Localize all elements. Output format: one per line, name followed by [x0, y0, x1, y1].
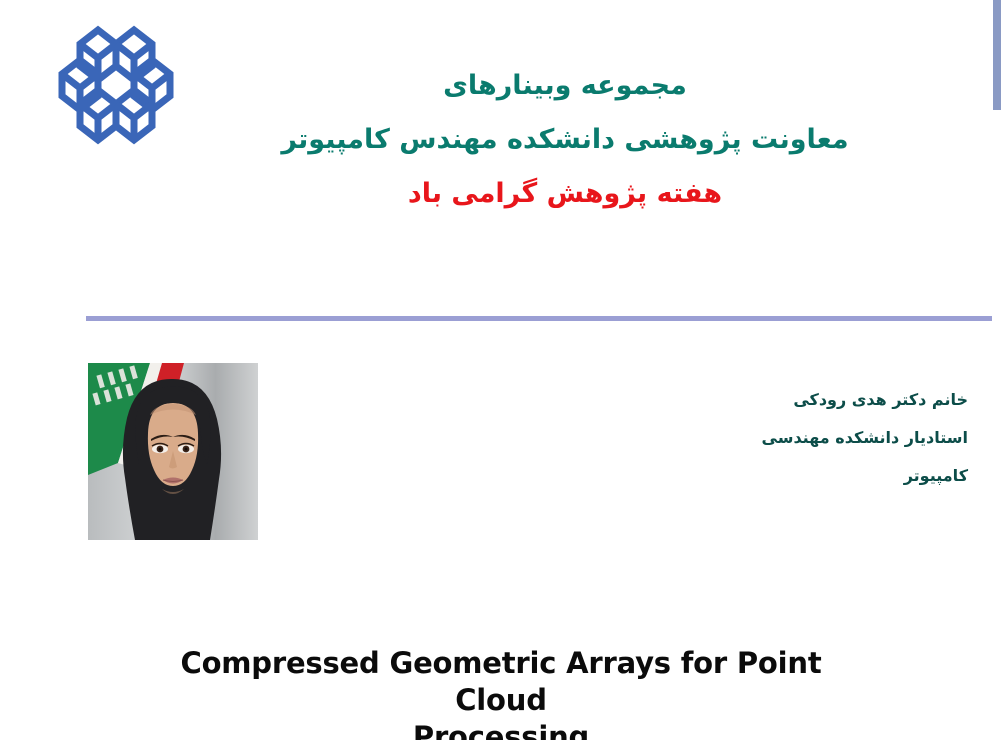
horizontal-divider — [86, 316, 1002, 321]
speaker-name: خانم دکتر هدی رودکی — [638, 392, 968, 409]
talk-title: Compressed Geometric Arrays for Point Cl… — [140, 645, 862, 740]
speaker-portrait-image — [88, 363, 258, 540]
talk-title-line-2: Processing — [413, 720, 589, 740]
header-text-block: مجموعه وبینارهای معاونت پژوهشی دانشکده م… — [215, 72, 915, 207]
speaker-photo — [88, 363, 258, 540]
header-line-3: هفته پژوهش گرامی باد — [215, 180, 915, 207]
scrollbar-thumb[interactable] — [993, 0, 1001, 110]
speaker-info-block: خانم دکتر هدی رودکی استادیار دانشکده مهن… — [638, 392, 968, 484]
talk-title-line-1: Compressed Geometric Arrays for Point Cl… — [180, 646, 821, 717]
university-logo — [46, 8, 186, 148]
vertical-scrollbar[interactable] — [992, 0, 1002, 740]
speaker-title-line-2: کامپیوتر — [638, 468, 968, 485]
speaker-title-line-1: استادیار دانشکده مهندسی — [638, 430, 968, 447]
slide-canvas: مجموعه وبینارهای معاونت پژوهشی دانشکده م… — [0, 0, 1002, 740]
header-line-1: مجموعه وبینارهای — [215, 72, 915, 99]
university-geometric-rosette-icon — [46, 8, 186, 148]
header-line-2: معاونت پژوهشی دانشکده مهندس کامپیوتر — [215, 126, 915, 153]
